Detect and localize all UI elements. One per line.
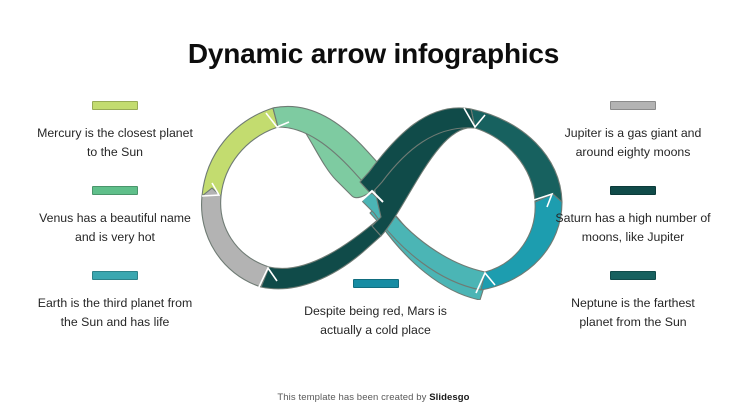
info-item-jupiter: Jupiter is a gas giant and around eighty… bbox=[553, 101, 713, 161]
footer-credit: This template has been created by Slides… bbox=[0, 392, 747, 403]
info-item-venus: Venus has a beautiful name and is very h… bbox=[35, 186, 195, 246]
color-bar-saturn bbox=[610, 186, 656, 195]
info-item-earth: Earth is the third planet from the Sun a… bbox=[35, 271, 195, 331]
footer-brand-slidesgo[interactable]: Slidesgo bbox=[429, 392, 469, 403]
footer-credit-prefix: This template has been created by bbox=[277, 392, 429, 403]
info-item-mercury: Mercury is the closest planet to the Sun bbox=[35, 101, 195, 161]
segment-deep-teal bbox=[471, 109, 562, 202]
info-item-saturn: Saturn has a high number of moons, like … bbox=[553, 186, 713, 246]
slide-canvas: Dynamic arrow infographics .seg { stroke… bbox=[0, 0, 747, 420]
info-item-mercury-text: Mercury is the closest planet to the Sun bbox=[35, 124, 195, 161]
page-title: Dynamic arrow infographics bbox=[0, 38, 747, 70]
info-item-mars: Despite being red, Mars is actually a co… bbox=[293, 279, 458, 339]
segment-yellow-green bbox=[202, 108, 278, 196]
infinity-loop-svg: .seg { stroke: #6f7b74; stroke-width: 1.… bbox=[185, 100, 565, 300]
info-item-saturn-text: Saturn has a high number of moons, like … bbox=[553, 209, 713, 246]
color-bar-earth bbox=[92, 271, 138, 280]
segment-gray bbox=[202, 188, 269, 287]
color-bar-mercury bbox=[92, 101, 138, 110]
color-bar-mars bbox=[353, 279, 399, 288]
info-item-neptune-text: Neptune is the farthest planet from the … bbox=[553, 294, 713, 331]
color-bar-neptune bbox=[610, 271, 656, 280]
info-item-venus-text: Venus has a beautiful name and is very h… bbox=[35, 209, 195, 246]
info-item-jupiter-text: Jupiter is a gas giant and around eighty… bbox=[553, 124, 713, 161]
info-item-neptune: Neptune is the farthest planet from the … bbox=[553, 271, 713, 331]
info-item-mars-text: Despite being red, Mars is actually a co… bbox=[293, 302, 458, 339]
color-bar-jupiter bbox=[610, 101, 656, 110]
segment-cyan bbox=[481, 194, 562, 290]
color-bar-venus bbox=[92, 186, 138, 195]
infinity-loop-diagram: .seg { stroke: #6f7b74; stroke-width: 1.… bbox=[185, 100, 565, 300]
info-item-earth-text: Earth is the third planet from the Sun a… bbox=[35, 294, 195, 331]
